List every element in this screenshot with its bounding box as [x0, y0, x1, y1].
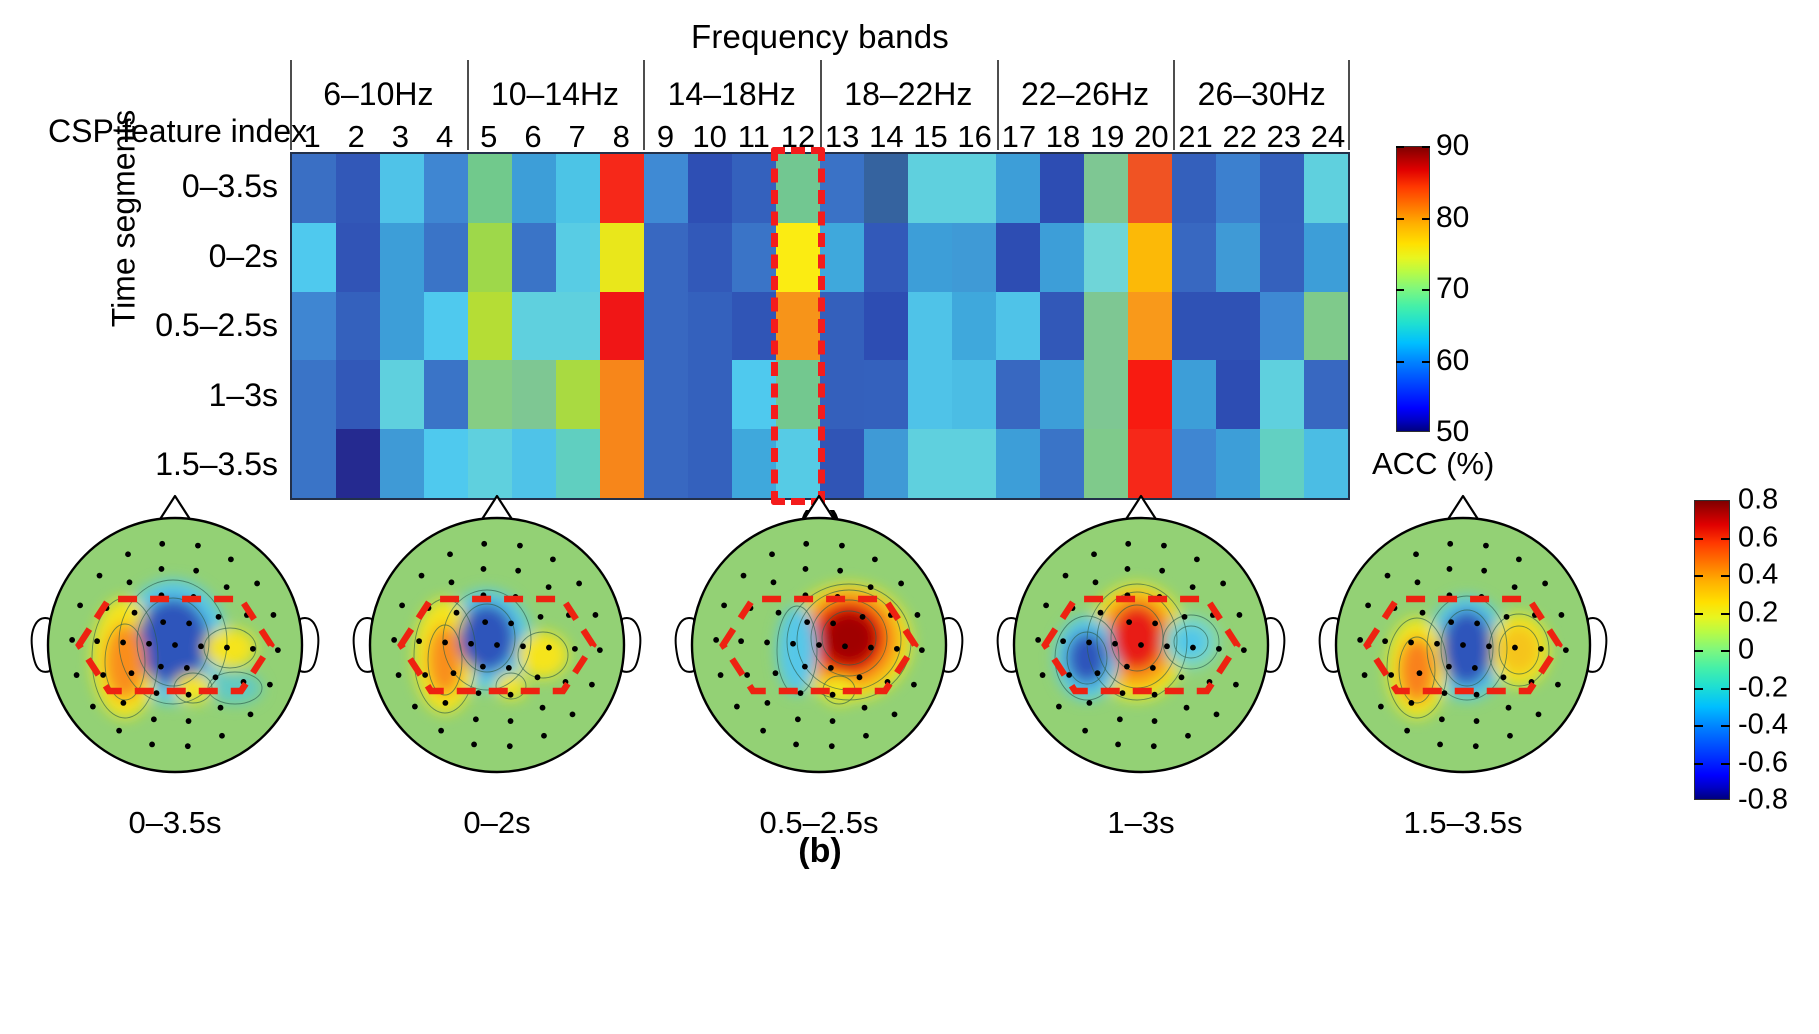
electrode-dot — [1378, 704, 1384, 710]
topoplot-0-2s: 0–2s — [347, 490, 647, 800]
electrode-dot — [213, 674, 219, 680]
electrode-dot — [480, 664, 486, 670]
electrode-dot — [837, 568, 843, 574]
electrode-dot — [546, 584, 552, 590]
frequency-band-label: 10–14Hz — [491, 76, 619, 113]
heatmap-cell — [1040, 292, 1084, 361]
accuracy-tick-mark — [1422, 146, 1430, 148]
csp-index-5: 5 — [467, 122, 511, 152]
electrode-dot — [1082, 728, 1088, 734]
electrode-dot — [1241, 647, 1247, 653]
electrode-dot — [764, 700, 770, 706]
accuracy-tick-80: 80 — [1436, 203, 1469, 233]
electrode-dot — [254, 581, 260, 587]
csp-index-24: 24 — [1306, 122, 1350, 152]
csp-index-19: 19 — [1085, 122, 1129, 152]
electrode-dot — [1357, 637, 1363, 643]
electrode-dot — [97, 573, 103, 579]
electrode-dot — [1214, 711, 1220, 717]
electrode-dot — [816, 642, 822, 648]
heatmap-cell — [908, 154, 952, 223]
pattern-tick-mark — [1694, 613, 1703, 615]
electrode-dot — [1483, 543, 1489, 549]
heatmap-cell — [556, 360, 600, 429]
csp-index-16: 16 — [953, 122, 997, 152]
pattern-tick-0m4: 0.4 — [1738, 561, 1778, 590]
electrode-dot — [1501, 674, 1507, 680]
heatmap-cell — [1084, 292, 1128, 361]
electrode-dot — [718, 672, 724, 678]
electrode-dot — [1086, 700, 1092, 706]
heatmap-cell — [732, 360, 776, 429]
electrode-dot — [1124, 664, 1130, 670]
electrode-dot — [1182, 614, 1188, 620]
electrode-dot — [829, 743, 835, 749]
electrode-dot — [721, 602, 727, 608]
electrode-dot — [593, 612, 599, 618]
heatmap-cell — [600, 360, 644, 429]
heatmap-cell — [1304, 360, 1348, 429]
electrode-dot — [1151, 743, 1157, 749]
pattern-tick-0m6: 0.6 — [1738, 523, 1778, 552]
scalp-map — [991, 490, 1291, 800]
time-segment-row-label: 0–3.5s — [182, 152, 278, 222]
electrode-dot — [1437, 742, 1443, 748]
electrode-dot — [146, 641, 152, 647]
frequency-band-5: 22–26Hz — [997, 60, 1174, 122]
heatmap-cell — [996, 223, 1040, 292]
heatmap-cell — [776, 154, 820, 223]
heatmap-cell — [380, 292, 424, 361]
heatmap-cell — [1172, 223, 1216, 292]
heatmap-row-labels: 0–3.5s0–2s0.5–2.5s1–3s1.5–3.5s — [90, 152, 286, 500]
accuracy-tick-60: 60 — [1436, 346, 1469, 376]
accuracy-tick-mark — [1396, 361, 1404, 363]
csp-index-6: 6 — [511, 122, 555, 152]
accuracy-tick-mark — [1396, 218, 1404, 220]
electrode-dot — [159, 566, 165, 572]
electrode-dot — [1056, 704, 1062, 710]
electrode-dot — [738, 638, 744, 644]
electrode-dot — [1086, 640, 1092, 646]
electrode-dot — [494, 642, 500, 648]
electrode-dot — [1559, 612, 1565, 618]
electrode-dot — [572, 646, 578, 652]
electrode-dot — [396, 672, 402, 678]
electrode-dot — [228, 556, 234, 562]
pattern-tick-mark — [1694, 650, 1703, 652]
heatmap-cell — [776, 360, 820, 429]
frequency-band-label: 18–22Hz — [844, 76, 972, 113]
electrode-dot — [868, 584, 874, 590]
heatmap-cell — [688, 292, 732, 361]
csp-index-15: 15 — [908, 122, 952, 152]
heatmap-grid — [290, 152, 1350, 500]
accuracy-tick-mark — [1422, 218, 1430, 220]
pattern-tick-m0-2: -0.2 — [1738, 673, 1788, 702]
electrode-dot — [1512, 584, 1518, 590]
heatmap-cell — [1084, 360, 1128, 429]
electrode-dot — [198, 643, 204, 649]
electrode-dot — [267, 682, 273, 688]
heatmap-cell — [1260, 223, 1304, 292]
electrode-dot — [830, 718, 836, 724]
electrode-dot — [872, 556, 878, 562]
electrode-dot — [839, 543, 845, 549]
csp-index-12: 12 — [776, 122, 820, 152]
electrode-dot — [412, 704, 418, 710]
heatmap-cell — [644, 223, 688, 292]
electrode-dot — [1447, 566, 1453, 572]
figure-root: Frequency bands CSP feature index Time s… — [0, 0, 1819, 1034]
pattern-tick-mark — [1721, 538, 1730, 540]
heatmap-cell — [424, 292, 468, 361]
electrode-dot — [862, 705, 868, 711]
electrode-dot — [120, 700, 126, 706]
electrode-dot — [570, 711, 576, 717]
heatmap-cell — [292, 360, 336, 429]
electrode-dot — [769, 551, 775, 557]
heatmap-cell — [996, 292, 1040, 361]
electrode-dot — [803, 566, 809, 572]
electrode-dot — [1382, 638, 1388, 644]
time-segment-row-label: 0–2s — [209, 222, 278, 292]
electrode-dot — [919, 647, 925, 653]
electrode-dot — [520, 643, 526, 649]
heatmap-cell — [512, 360, 556, 429]
heatmap-cell — [952, 223, 996, 292]
electrode-dot — [892, 711, 898, 717]
electrode-dot — [125, 551, 131, 557]
heatmap-cell — [864, 360, 908, 429]
pattern-tick-m0-8: -0.8 — [1738, 786, 1788, 815]
electrode-dot — [830, 620, 836, 626]
electrode-dot — [442, 700, 448, 706]
heatmap-cell — [908, 223, 952, 292]
heatmap-cell — [1304, 223, 1348, 292]
electrode-dot — [830, 692, 836, 698]
heatmap-cell — [688, 154, 732, 223]
electrode-dot — [771, 579, 777, 585]
electrode-dot — [1486, 643, 1492, 649]
heatmap-cell — [468, 223, 512, 292]
pattern-tick-mark — [1721, 763, 1730, 765]
heatmap-cell — [908, 292, 952, 361]
scalp-map — [1313, 490, 1613, 800]
electrode-dot — [773, 670, 779, 676]
electrode-dot — [506, 665, 512, 671]
electrode-dot — [790, 641, 796, 647]
heatmap-cell — [644, 360, 688, 429]
electrode-dot — [1126, 619, 1132, 625]
electrode-dot — [1555, 682, 1561, 688]
electrode-dot — [1112, 641, 1118, 647]
electrode-dot — [1362, 672, 1368, 678]
heatmap-cell — [1128, 360, 1172, 429]
electrode-dot — [576, 581, 582, 587]
electrode-dot — [776, 610, 782, 616]
electrode-dot — [1538, 646, 1544, 652]
electrode-dot — [438, 728, 444, 734]
heatmap-cell — [468, 360, 512, 429]
heatmap-cell — [1084, 154, 1128, 223]
electrode-dot — [1434, 641, 1440, 647]
heatmap-cell — [820, 223, 864, 292]
electrode-dot — [1152, 718, 1158, 724]
electrode-dot — [1040, 672, 1046, 678]
electrode-dot — [1474, 718, 1480, 724]
heatmap-cell — [952, 360, 996, 429]
electrode-dot — [1115, 742, 1121, 748]
accuracy-tick-50: 50 — [1436, 417, 1469, 447]
electrode-dot — [216, 614, 222, 620]
electrode-dot — [219, 733, 225, 739]
electrode-dot — [1091, 551, 1097, 557]
electrode-dot — [1216, 646, 1222, 652]
electrode-dot — [1365, 602, 1371, 608]
time-segment-row-label: 0.5–2.5s — [155, 291, 278, 361]
electrode-dot — [1161, 543, 1167, 549]
electrode-dot — [1408, 640, 1414, 646]
electrode-dot — [1472, 665, 1478, 671]
electrode-dot — [1504, 614, 1510, 620]
electrode-dot — [1413, 551, 1419, 557]
time-segment-row-label: 1–3s — [209, 361, 278, 431]
electrode-dot — [90, 704, 96, 710]
pattern-tick-mark — [1694, 688, 1703, 690]
csp-index-7: 7 — [555, 122, 599, 152]
heatmap-cell — [732, 292, 776, 361]
frequency-band-label: 6–10Hz — [323, 76, 433, 113]
electrode-dot — [476, 690, 482, 696]
electrode-dot — [508, 718, 514, 724]
electrode-dot — [1190, 584, 1196, 590]
electrode-dot — [1474, 620, 1480, 626]
pattern-tick-0m8: 0.8 — [1738, 486, 1778, 515]
electrode-dot — [154, 690, 160, 696]
pattern-tick-mark — [1694, 575, 1703, 577]
pattern-tick-mark — [1694, 763, 1703, 765]
electrode-dot — [508, 692, 514, 698]
electrode-dot — [224, 645, 230, 651]
electrode-dot — [468, 641, 474, 647]
electrode-dot — [1506, 705, 1512, 711]
frequency-band-label: 22–26Hz — [1021, 76, 1149, 113]
csp-index-4: 4 — [423, 122, 467, 152]
csp-index-10: 10 — [688, 122, 732, 152]
pattern-tick-mark — [1694, 538, 1703, 540]
scalp-map — [25, 490, 325, 800]
heatmap-cell — [292, 223, 336, 292]
electrode-dot — [1164, 643, 1170, 649]
electrode-dot — [1220, 581, 1226, 587]
csp-index-3: 3 — [378, 122, 422, 152]
csp-index-13: 13 — [820, 122, 864, 152]
electrode-dot — [74, 672, 80, 678]
electrode-dot — [248, 711, 254, 717]
heatmap-cell — [1216, 223, 1260, 292]
electrode-dot — [151, 716, 157, 722]
electrode-dot — [868, 645, 874, 651]
electrode-dot — [1536, 711, 1542, 717]
electrode-dot — [1507, 733, 1513, 739]
heatmap-cell — [732, 223, 776, 292]
electrode-dot — [116, 728, 122, 734]
frequency-band-6: 26–30Hz — [1173, 60, 1350, 122]
accuracy-tick-90: 90 — [1436, 131, 1469, 161]
csp-index-18: 18 — [1041, 122, 1085, 152]
frequency-band-1: 6–10Hz — [290, 60, 467, 122]
electrode-dot — [1179, 674, 1185, 680]
heatmap-cell — [996, 154, 1040, 223]
heatmap-cell — [1084, 223, 1128, 292]
heatmap-cell — [468, 292, 512, 361]
csp-index-21: 21 — [1173, 122, 1217, 152]
electrode-dot — [515, 568, 521, 574]
csp-index-9: 9 — [643, 122, 687, 152]
electrode-dot — [186, 718, 192, 724]
heatmap-cell — [336, 154, 380, 223]
heatmap-cell — [380, 360, 424, 429]
electrode-dot — [1448, 619, 1454, 625]
electrode-dot — [541, 733, 547, 739]
heatmap-cell — [556, 292, 600, 361]
frequency-band-4: 18–22Hz — [820, 60, 997, 122]
topoplot-1-3s: 1–3s — [991, 490, 1291, 800]
heatmap-cell — [1216, 360, 1260, 429]
heatmap-cell — [468, 154, 512, 223]
electrode-dot — [482, 619, 488, 625]
electrode-dot — [451, 670, 457, 676]
electrode-dot — [127, 579, 133, 585]
electrode-dot — [863, 733, 869, 739]
heatmap-cell — [424, 154, 468, 223]
electrode-dot — [160, 619, 166, 625]
electrode-dot — [508, 620, 514, 626]
electrode-dot — [184, 665, 190, 671]
electrode-dot — [1446, 664, 1452, 670]
heatmap-cell — [1304, 292, 1348, 361]
heatmap-cell — [864, 154, 908, 223]
electrode-dot — [275, 647, 281, 653]
topoplot-1-5-3-5s: 1.5–3.5s — [1313, 490, 1613, 800]
electrode-dot — [250, 646, 256, 652]
heatmap-cell — [952, 292, 996, 361]
heatmap-cell — [820, 154, 864, 223]
electrode-dot — [77, 602, 83, 608]
electrode-dot — [798, 690, 804, 696]
heatmap-cell — [1304, 154, 1348, 223]
heatmap-container: 6–10Hz10–14Hz14–18Hz18–22Hz22–26Hz26–30H… — [290, 60, 1350, 500]
electrode-dot — [1194, 556, 1200, 562]
panel-b-caption: (b) — [0, 832, 1640, 871]
electrode-dot — [1185, 733, 1191, 739]
electrode-dot — [734, 704, 740, 710]
accuracy-tick-mark — [1396, 146, 1404, 148]
frequency-band-3: 14–18Hz — [643, 60, 820, 122]
heatmap-cell — [1128, 223, 1172, 292]
electrode-dot — [473, 716, 479, 722]
electrode-dot — [1460, 642, 1466, 648]
heatmap-cell — [820, 360, 864, 429]
electrode-dot — [1125, 541, 1131, 547]
electrode-dot — [795, 716, 801, 722]
electrode-dot — [842, 643, 848, 649]
heatmap-cell — [1040, 223, 1084, 292]
heatmap-cell — [1260, 154, 1304, 223]
electrode-dot — [481, 566, 487, 572]
heatmap-cell — [380, 154, 424, 223]
electrode-dot — [94, 638, 100, 644]
electrode-dot — [550, 556, 556, 562]
csp-index-8: 8 — [599, 122, 643, 152]
electrode-dot — [1138, 642, 1144, 648]
heatmap-cell — [1128, 292, 1172, 361]
electrode-dot — [129, 670, 135, 676]
heatmap-cell — [732, 154, 776, 223]
electrode-dot — [1035, 637, 1041, 643]
heatmap-cell — [600, 223, 644, 292]
electrode-dot — [804, 619, 810, 625]
csp-index-1: 1 — [290, 122, 334, 152]
electrode-dot — [911, 682, 917, 688]
topoplot-0-3-5s: 0–3.5s — [25, 490, 325, 800]
electrode-dot — [713, 637, 719, 643]
heatmap-cell — [512, 154, 556, 223]
electrode-dot — [857, 674, 863, 680]
electrode-dot — [1473, 743, 1479, 749]
electrode-dot — [1442, 690, 1448, 696]
electrode-dot — [1233, 682, 1239, 688]
pattern-tick-m0-4: -0.4 — [1738, 711, 1788, 740]
heatmap-cell — [996, 360, 1040, 429]
electrode-dot — [1385, 573, 1391, 579]
frequency-band-label: 26–30Hz — [1198, 76, 1326, 113]
scalp-map — [669, 490, 969, 800]
electrode-dot — [271, 612, 277, 618]
heatmap-cell — [424, 360, 468, 429]
heatmap-cell — [776, 292, 820, 361]
heatmap-cell — [688, 360, 732, 429]
electrode-dot — [391, 637, 397, 643]
electrode-dot — [69, 637, 75, 643]
csp-index-14: 14 — [864, 122, 908, 152]
heatmap-cell — [1216, 154, 1260, 223]
csp-index-11: 11 — [732, 122, 776, 152]
electrode-dot — [540, 705, 546, 711]
electrode-dot — [1404, 728, 1410, 734]
csp-index-header-row: 123456789101112131415161718192021222324 — [290, 122, 1350, 152]
electrode-dot — [1159, 568, 1165, 574]
heatmap-cell — [1172, 360, 1216, 429]
heatmap-cell — [644, 154, 688, 223]
csp-index-2: 2 — [334, 122, 378, 152]
pattern-tick-mark — [1721, 725, 1730, 727]
pattern-tick-m0-6: -0.6 — [1738, 748, 1788, 777]
pattern-tick-mark — [1721, 650, 1730, 652]
electrode-dot — [449, 579, 455, 585]
electrode-dot — [185, 743, 191, 749]
heatmap-cell — [776, 223, 820, 292]
heatmap-cell — [864, 292, 908, 361]
electrode-dot — [1516, 556, 1522, 562]
electrode-dot — [419, 573, 425, 579]
electrode-dot — [1420, 610, 1426, 616]
heatmap-cell — [864, 223, 908, 292]
electrode-dot — [1184, 705, 1190, 711]
csp-feature-index-axis-label: CSP feature index — [48, 113, 307, 150]
electrode-dot — [1439, 716, 1445, 722]
